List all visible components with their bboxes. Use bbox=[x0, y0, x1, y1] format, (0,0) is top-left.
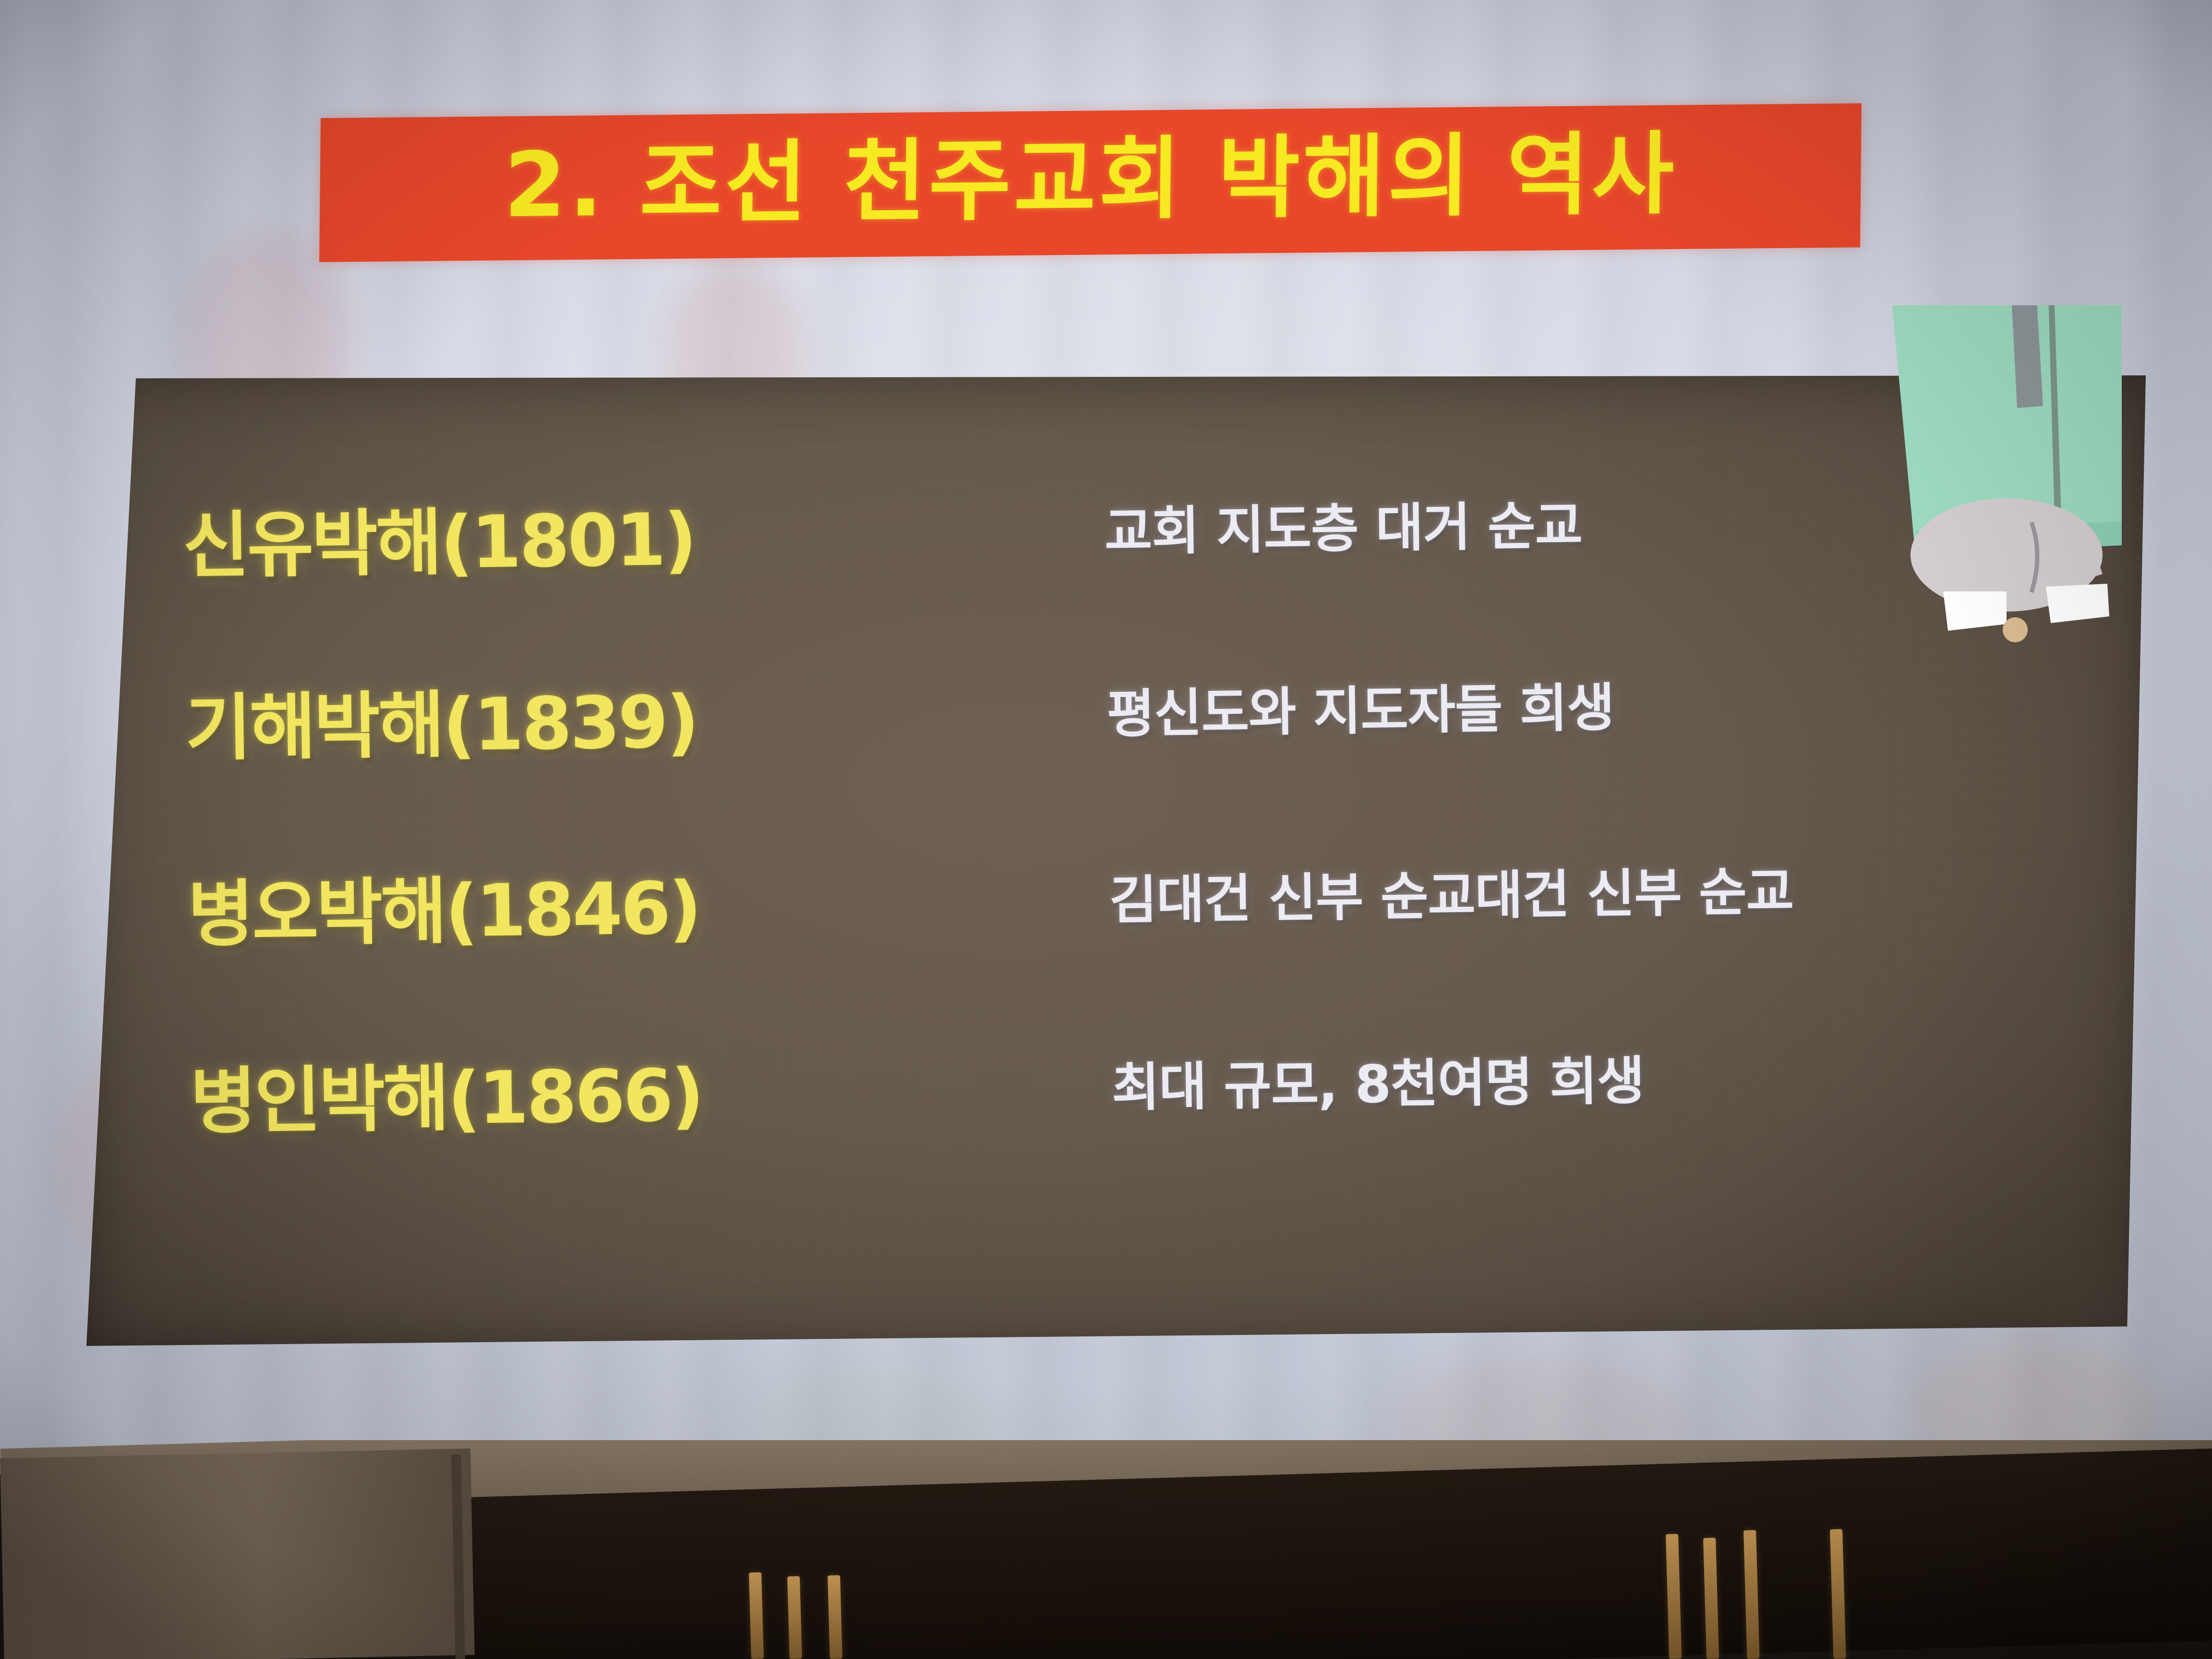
page-title: 2. 조선 천주교회 박해의 역사 bbox=[504, 130, 1677, 230]
wood-slat bbox=[787, 1576, 802, 1659]
persecution-event-list: 신유박해(1801) 교회 지도층 대거 순교 기해박해(1839) 평신도와 … bbox=[80, 362, 2152, 1363]
room-furniture bbox=[0, 1440, 2212, 1659]
table-row: 기해박해(1839) 평신도와 지도자들 희생 bbox=[84, 637, 2144, 783]
table-row: 신유박해(1801) 교회 지도층 대거 순교 bbox=[81, 454, 2142, 601]
wood-side-panel bbox=[0, 1448, 475, 1659]
slide-content-panel: 신유박해(1801) 교회 지도층 대거 순교 기해박해(1839) 평신도와 … bbox=[86, 375, 2146, 1350]
event-description: 평신도와 지도자들 희생 bbox=[1106, 666, 1615, 747]
event-label: 병인박해(1866) bbox=[190, 1037, 703, 1148]
wood-slat bbox=[828, 1575, 842, 1659]
projection-screen: 2. 조선 천주교회 박해의 역사 신유박해(1801) 교회 지도층 대거 순… bbox=[0, 0, 2212, 1474]
event-description: 최대 규모, 8천여명 희생 bbox=[1111, 1039, 1645, 1121]
event-label: 병오박해(1846) bbox=[187, 850, 700, 961]
event-label: 신유박해(1801) bbox=[182, 481, 696, 592]
wood-slat bbox=[749, 1572, 764, 1659]
slide-title-banner: 2. 조선 천주교회 박해의 역사 bbox=[319, 103, 1862, 262]
event-description: 교회 지도층 대거 순교 bbox=[1104, 484, 1583, 565]
photo-of-projected-slide: 2. 조선 천주교회 박해의 역사 신유박해(1801) 교회 지도층 대거 순… bbox=[0, 0, 2212, 1659]
table-row: 병인박해(1866) 최대 규모, 8천여명 희생 bbox=[89, 1010, 2150, 1157]
slide-title-banner-inner: 2. 조선 천주교회 박해의 역사 bbox=[319, 103, 1862, 262]
table-row: 병오박해(1846) 김대건 신부 순교대건 신부 순교 bbox=[86, 823, 2147, 970]
event-label: 기해박해(1839) bbox=[185, 663, 698, 774]
event-description: 김대건 신부 순교대건 신부 순교 bbox=[1109, 850, 1794, 934]
